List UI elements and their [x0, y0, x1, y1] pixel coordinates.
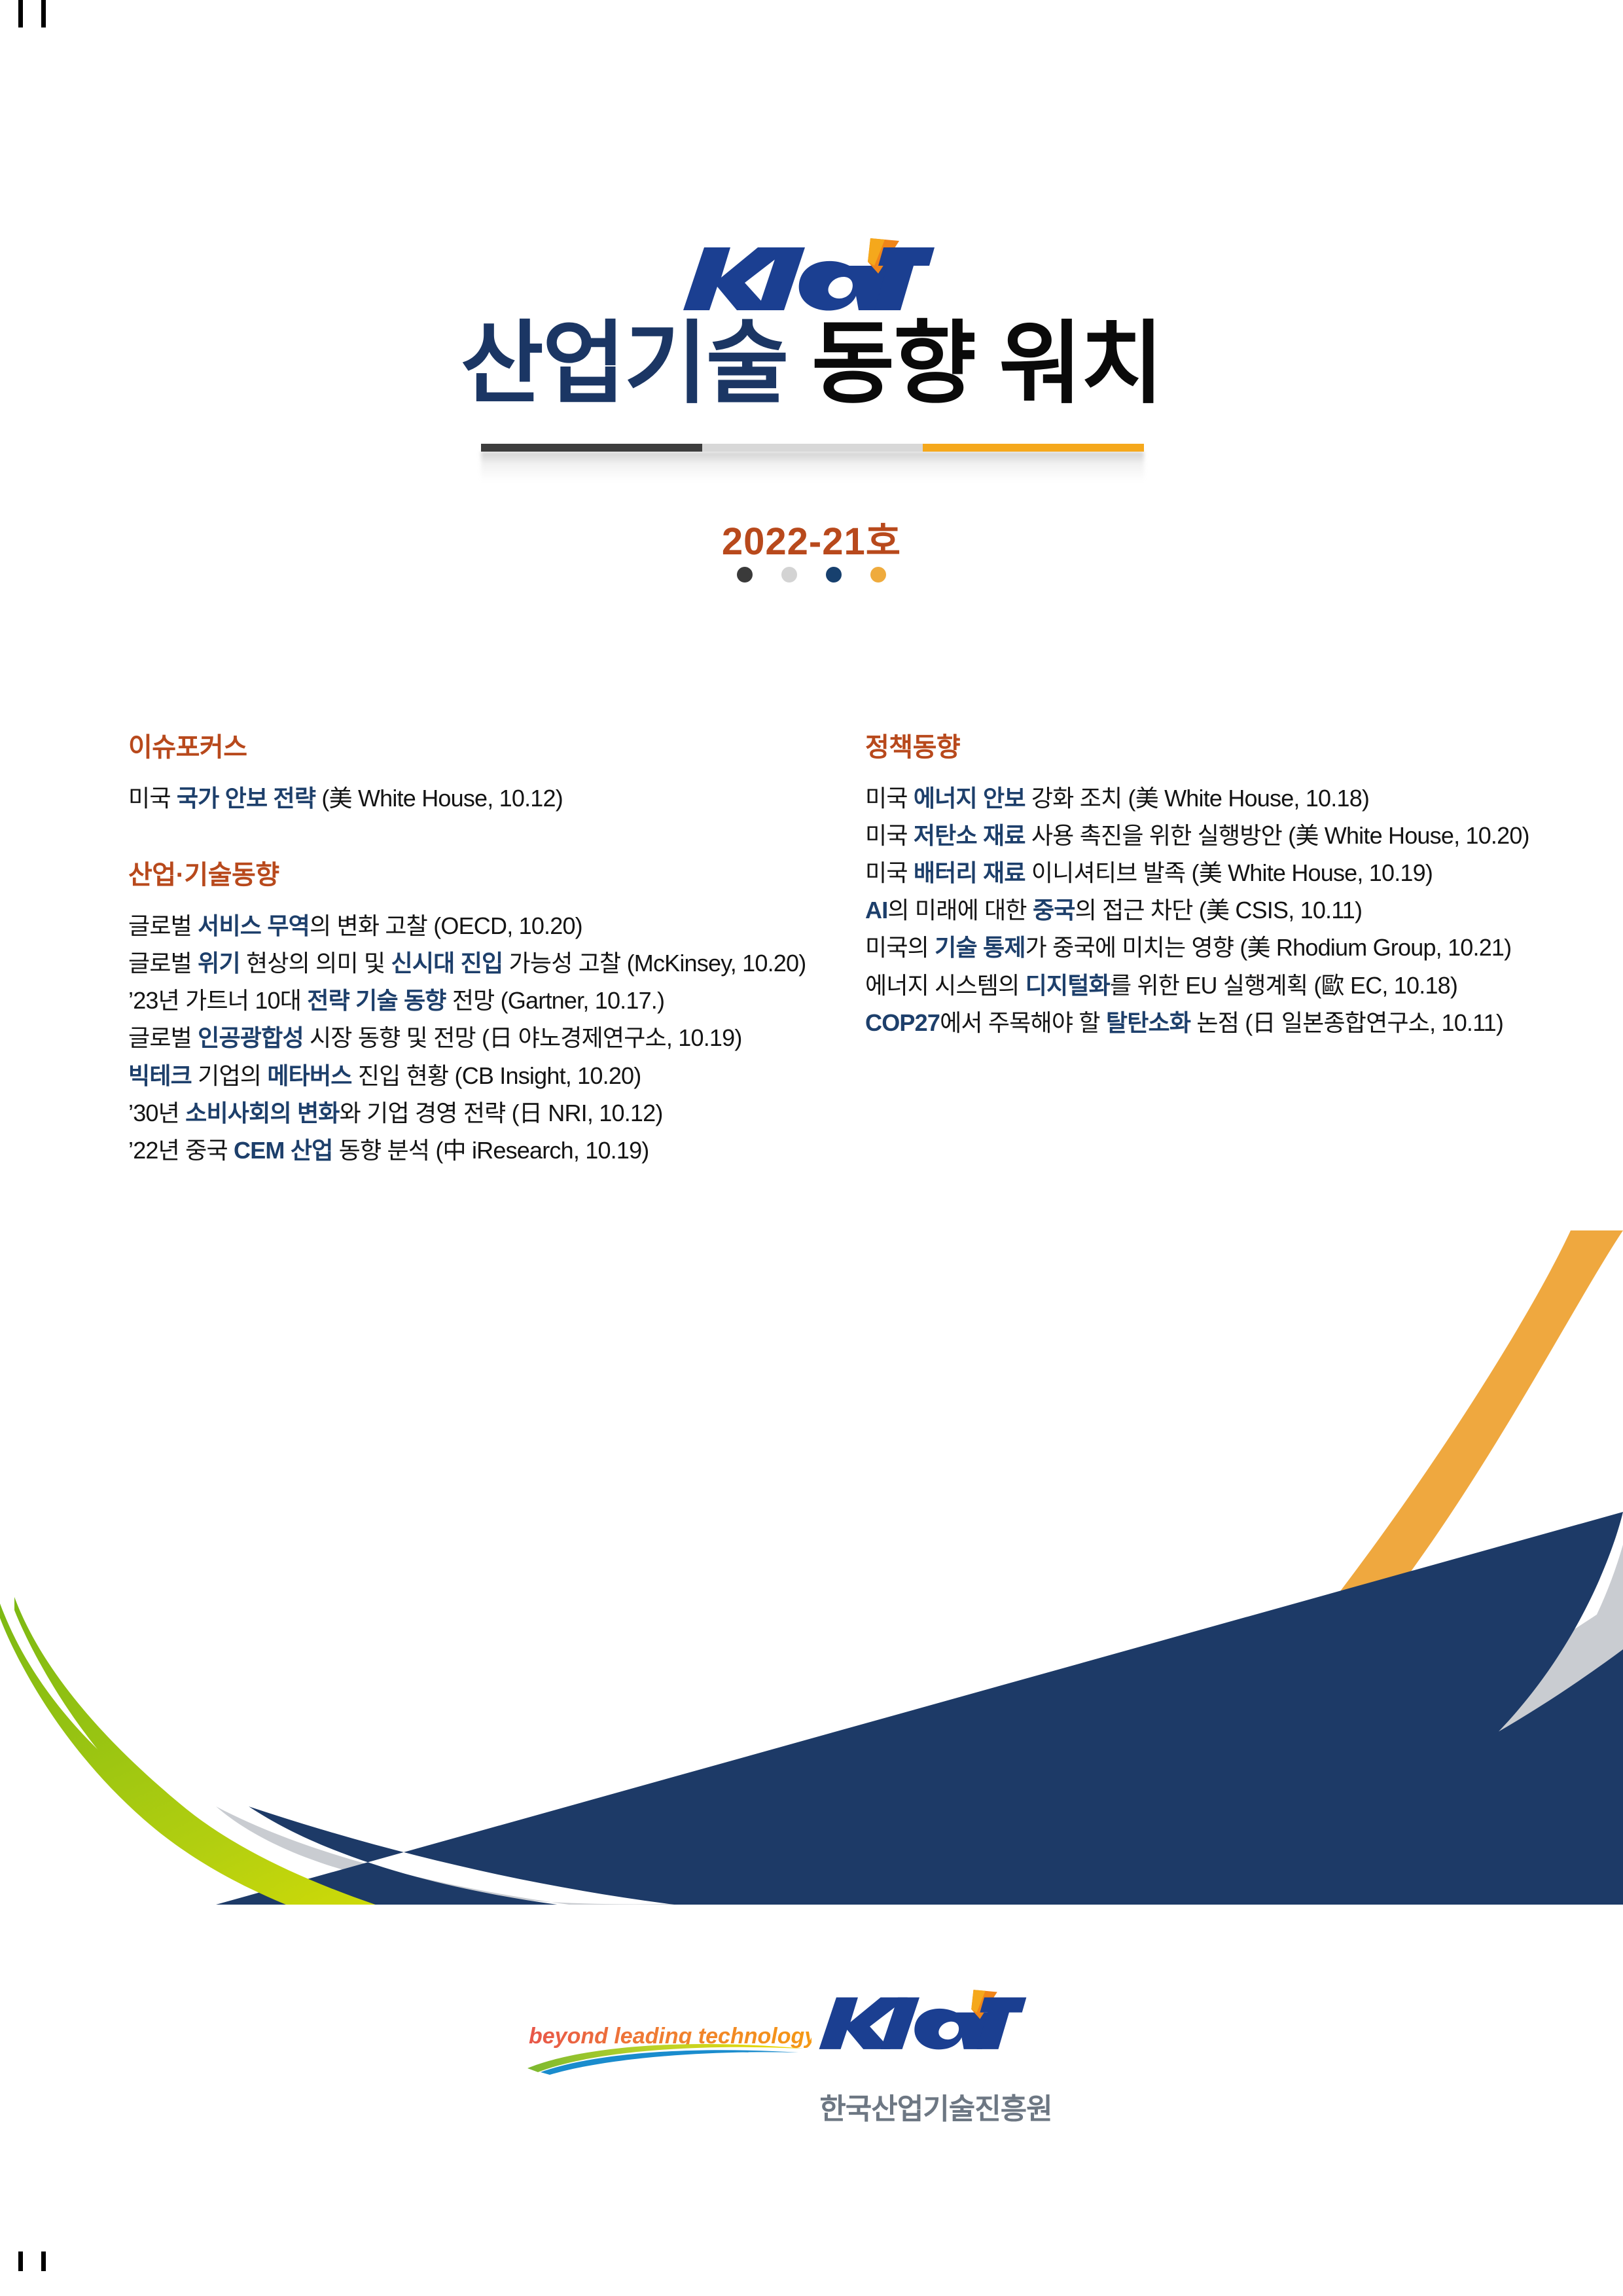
- list-item[interactable]: 미국 국가 안보 전략 (美 White House, 10.12): [128, 781, 842, 815]
- item-keyword: AI: [865, 897, 887, 924]
- item-text: 에서 주목해야 할: [940, 1009, 1106, 1036]
- title-rule: [481, 444, 1144, 452]
- item-text: 가 중국에 미치는 영향 (美 Rhodium Group, 10.21): [1026, 934, 1512, 961]
- crop-mark-bottom-left-2: [41, 2251, 46, 2271]
- item-text: 논점 (日 일본종합연구소, 10.11): [1190, 1009, 1503, 1036]
- title-rule-segment-dark: [481, 444, 702, 452]
- item-keyword: COP27: [865, 1009, 940, 1036]
- item-text: 의 변화 고찰 (OECD, 10.20): [310, 912, 582, 939]
- cover-page: 산업기술 동향 워치 2022-21호 이슈포커스미국 국가 안보 전략 (美 …: [0, 0, 1623, 2296]
- item-text: 글로벌: [128, 912, 198, 939]
- list-item[interactable]: 미국 저탄소 재료 사용 촉진을 위한 실행방안 (美 White House,…: [865, 819, 1592, 852]
- item-text: 가능성 고찰 (McKinsey, 10.20): [503, 950, 806, 977]
- item-keyword: CEM 산업: [234, 1137, 332, 1164]
- item-text: 와 기업 경영 전략 (日 NRI, 10.12): [340, 1100, 663, 1126]
- content-column-left: 이슈포커스미국 국가 안보 전략 (美 White House, 10.12)산…: [128, 733, 842, 1171]
- item-text: 전망 (Gartner, 10.17.): [446, 987, 665, 1014]
- item-text: 기업의: [192, 1062, 267, 1089]
- item-keyword: 디지털화: [1026, 972, 1110, 999]
- item-keyword: 위기: [198, 950, 240, 977]
- item-keyword: 배터리 재료: [914, 859, 1026, 886]
- item-text: ’23년 가트너 10대: [128, 987, 307, 1014]
- page-title-primary: 산업기술: [461, 314, 811, 414]
- item-text: 를 위한 EU 실행계획 (歐 EC, 10.18): [1110, 972, 1457, 999]
- decorative-swoosh-artwork: [0, 1230, 1623, 1905]
- item-keyword: 탈탄소화: [1106, 1009, 1190, 1036]
- list-item[interactable]: 글로벌 인공광합성 시장 동향 및 전망 (日 야노경제연구소, 10.19): [128, 1021, 842, 1054]
- section-heading: 정책동향: [865, 733, 1592, 762]
- section-heading: 이슈포커스: [128, 733, 842, 762]
- item-keyword: 신시대 진입: [391, 950, 503, 977]
- item-text: 에너지 시스템의: [865, 972, 1026, 999]
- footer-org-name: 한국산업기술진흥원: [811, 2085, 1060, 2127]
- item-text: 글로벌: [128, 950, 198, 977]
- item-text: 미국: [865, 822, 914, 849]
- title-rule-segment-orange: [923, 444, 1144, 452]
- list-item[interactable]: ’30년 소비사회의 변화와 기업 경영 전략 (日 NRI, 10.12): [128, 1096, 842, 1130]
- page-title-secondary: 동향 워치: [811, 314, 1162, 414]
- item-text: ’22년 중국: [128, 1137, 234, 1164]
- title-rule-shadow: [481, 452, 1144, 482]
- item-keyword: 중국: [1033, 897, 1075, 924]
- item-keyword: 에너지 안보: [914, 785, 1026, 812]
- item-keyword: 전략 기술 동향: [307, 987, 446, 1014]
- list-item[interactable]: 글로벌 위기 현상의 의미 및 신시대 진입 가능성 고찰 (McKinsey,…: [128, 946, 842, 980]
- decorative-dots: [0, 567, 1623, 583]
- list-item[interactable]: COP27에서 주목해야 할 탈탄소화 논점 (日 일본종합연구소, 10.11…: [865, 1006, 1592, 1039]
- item-list: 글로벌 서비스 무역의 변화 고찰 (OECD, 10.20)글로벌 위기 현상…: [128, 909, 842, 1167]
- item-text: 의 미래에 대한: [887, 897, 1033, 924]
- list-item[interactable]: 미국 배터리 재료 이니셔티브 발족 (美 White House, 10.19…: [865, 856, 1592, 889]
- section-block: 정책동향미국 에너지 안보 강화 조치 (美 White House, 10.1…: [865, 733, 1592, 1039]
- item-keyword: 국가 안보 전략: [177, 785, 315, 812]
- item-keyword: 인공광합성: [198, 1024, 304, 1051]
- item-keyword: 소비사회의 변화: [185, 1100, 339, 1126]
- item-text: 현상의 의미 및: [240, 950, 391, 977]
- dot-navy: [826, 567, 842, 583]
- item-text: 이니셔티브 발족 (美 White House, 10.19): [1026, 859, 1433, 886]
- list-item[interactable]: 빅테크 기업의 메타버스 진입 현황 (CB Insight, 10.20): [128, 1059, 842, 1092]
- item-text: 글로벌: [128, 1024, 198, 1051]
- item-text: 미국의: [865, 934, 935, 961]
- section-block: 산업·기술동향글로벌 서비스 무역의 변화 고찰 (OECD, 10.20)글로…: [128, 861, 842, 1167]
- crop-mark-top-left-2: [41, 0, 46, 27]
- kiat-logo-footer: [811, 1988, 1027, 2054]
- item-text: 의 접근 차단 (美 CSIS, 10.11): [1075, 897, 1363, 924]
- list-item[interactable]: 에너지 시스템의 디지털화를 위한 EU 실행계획 (歐 EC, 10.18): [865, 969, 1592, 1002]
- dot-gold: [870, 567, 886, 583]
- item-text: 미국: [128, 785, 177, 812]
- item-text: 미국: [865, 785, 914, 812]
- item-text: ’30년: [128, 1100, 185, 1126]
- section-block: 이슈포커스미국 국가 안보 전략 (美 White House, 10.12): [128, 733, 842, 815]
- crop-mark-top-left-1: [18, 0, 23, 27]
- item-keyword: 빅테크: [128, 1062, 192, 1089]
- list-item[interactable]: 글로벌 서비스 무역의 변화 고찰 (OECD, 10.20): [128, 909, 842, 942]
- page-title: 산업기술 동향 워치: [0, 315, 1623, 413]
- issue-number: 2022-21호: [0, 511, 1623, 565]
- list-item[interactable]: 미국 에너지 안보 강화 조치 (美 White House, 10.18): [865, 781, 1592, 815]
- item-list: 미국 국가 안보 전략 (美 White House, 10.12): [128, 781, 842, 815]
- dot-dark: [737, 567, 753, 583]
- content-column-right: 정책동향미국 에너지 안보 강화 조치 (美 White House, 10.1…: [865, 733, 1592, 1043]
- item-text: (美 White House, 10.12): [315, 785, 563, 812]
- item-text: 강화 조치 (美 White House, 10.18): [1026, 785, 1369, 812]
- list-item[interactable]: 미국의 기술 통제가 중국에 미치는 영향 (美 Rhodium Group, …: [865, 931, 1592, 964]
- dot-light: [781, 567, 797, 583]
- item-keyword: 기술 통제: [935, 934, 1025, 961]
- title-rule-segment-light: [702, 444, 922, 452]
- item-list: 미국 에너지 안보 강화 조치 (美 White House, 10.18)미국…: [865, 781, 1592, 1039]
- item-text: 동향 분석 (中 iResearch, 10.19): [332, 1137, 649, 1164]
- section-heading: 산업·기술동향: [128, 861, 842, 889]
- footer-tagline: beyond leading technology: [524, 2003, 811, 2075]
- kiat-logo: [674, 237, 936, 315]
- item-text: 사용 촉진을 위한 실행방안 (美 White House, 10.20): [1026, 822, 1529, 849]
- item-keyword: 메타버스: [267, 1062, 351, 1089]
- item-text: 시장 동향 및 전망 (日 야노경제연구소, 10.19): [304, 1024, 742, 1051]
- item-text: 진입 현황 (CB Insight, 10.20): [352, 1062, 641, 1089]
- list-item[interactable]: ’22년 중국 CEM 산업 동향 분석 (中 iResearch, 10.19…: [128, 1134, 842, 1167]
- item-keyword: 서비스 무역: [198, 912, 310, 939]
- crop-mark-bottom-left-1: [18, 2251, 23, 2271]
- list-item[interactable]: ’23년 가트너 10대 전략 기술 동향 전망 (Gartner, 10.17…: [128, 984, 842, 1017]
- item-text: 미국: [865, 859, 914, 886]
- item-keyword: 저탄소 재료: [914, 822, 1026, 849]
- list-item[interactable]: AI의 미래에 대한 중국의 접근 차단 (美 CSIS, 10.11): [865, 893, 1592, 927]
